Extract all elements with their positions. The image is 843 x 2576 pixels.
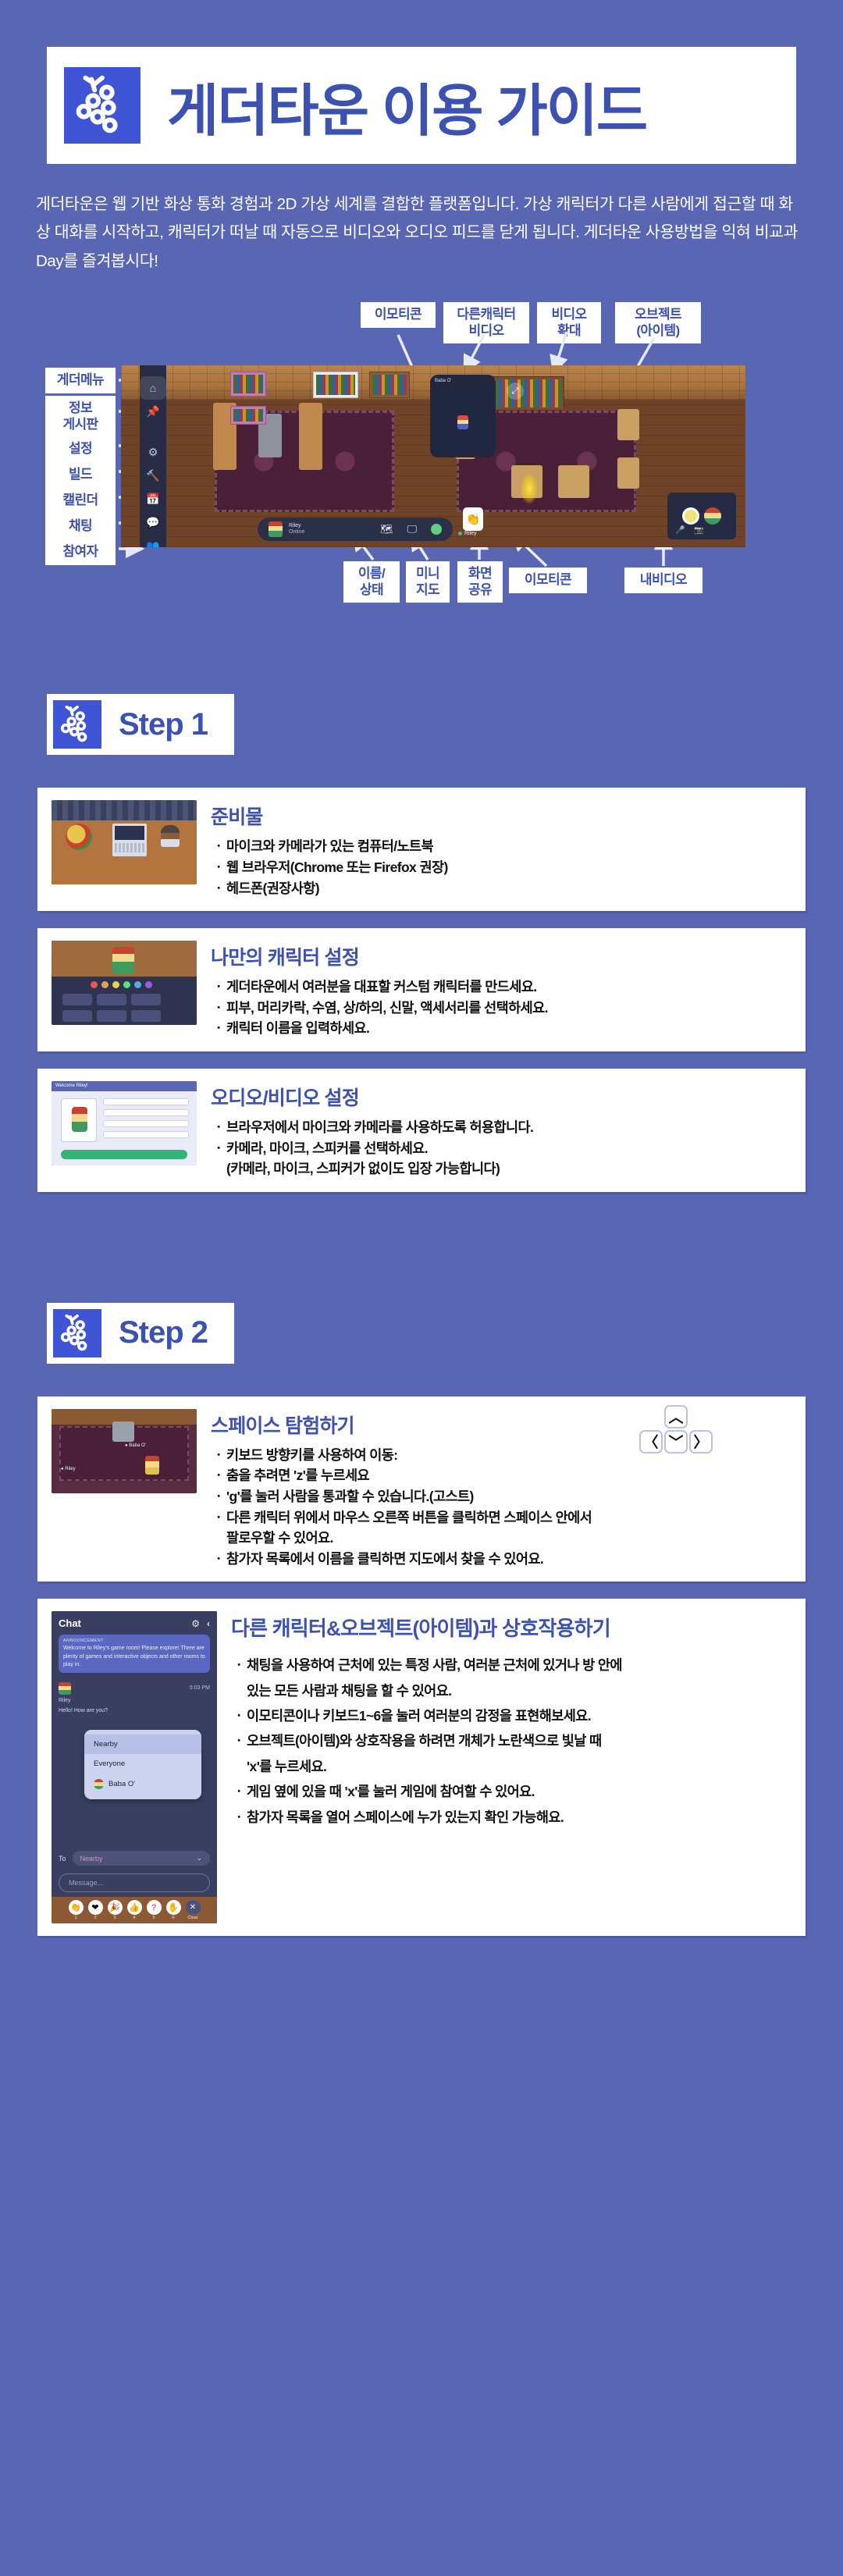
emoji-key-2[interactable]: ❤2 bbox=[88, 1900, 103, 1920]
screenshare-icon[interactable]: 🖵 bbox=[407, 523, 417, 535]
announcement-tag: ANNOUNCEMENT bbox=[63, 1638, 205, 1643]
callout-screenshare: 화면 공유 bbox=[457, 561, 503, 602]
card-character-setup: 나만의 캐릭터 설정 게더타운에서 여러분을 대표할 커스텀 캐릭터를 만드세요… bbox=[37, 928, 806, 1051]
recipient-value: Nearby bbox=[80, 1855, 103, 1863]
av-settings-thumb: Welcome Riley! bbox=[52, 1081, 197, 1165]
dropdown-option-nearby[interactable]: Nearby bbox=[84, 1735, 201, 1754]
section-spacer bbox=[0, 1209, 843, 1303]
toolbar-user-name: Riley bbox=[289, 523, 304, 530]
page-title: 게더타운 이용 가이드 bbox=[167, 65, 646, 147]
home-icon[interactable]: ⌂ bbox=[140, 376, 166, 400]
desk-laptop-thumb bbox=[52, 800, 197, 884]
character-creator-thumb bbox=[52, 941, 197, 1025]
emoji-key-number: 3 bbox=[113, 1916, 116, 1920]
glowing-object-item[interactable] bbox=[521, 473, 538, 504]
calendar-icon[interactable]: 📅 bbox=[140, 487, 166, 511]
down-arrow-key[interactable]: ﹀ bbox=[664, 1430, 688, 1453]
card-av-setup: Welcome Riley! 오디오/비디오 설정 브라우저에서 마이크와 카메… bbox=[37, 1069, 806, 1192]
message-input[interactable]: Message... bbox=[59, 1873, 210, 1892]
player-nametag: ● Riley bbox=[61, 1467, 76, 1471]
close-icon: ✕ bbox=[186, 1900, 201, 1915]
list-item: 'g'를 눌러 사람을 통과할 수 있습니다.(고스트) bbox=[211, 1486, 791, 1507]
card-preparation: 준비물 마이크와 카메라가 있는 컴퓨터/노트북 웹 브라우저(Chrome 또… bbox=[37, 788, 806, 911]
emoji-key-number: 4 bbox=[133, 1916, 135, 1920]
left-arrow-key[interactable]: 〈 bbox=[639, 1430, 663, 1453]
list-item: 웹 브라우저(Chrome 또는 Firefox 권장) bbox=[211, 857, 791, 878]
recipient-select[interactable]: Nearby ⌄ bbox=[73, 1851, 210, 1866]
people-icon[interactable]: 👥 bbox=[140, 534, 166, 547]
gather-grape-logo-icon bbox=[64, 67, 140, 144]
card-bullets: 마이크와 카메라가 있는 컴퓨터/노트북 웹 브라우저(Chrome 또는 Fi… bbox=[211, 836, 791, 898]
pin-icon[interactable]: 📌 bbox=[140, 400, 166, 423]
callout-my-video: 내비디오 bbox=[624, 568, 702, 592]
card-title: 오디오/비디오 설정 bbox=[211, 1083, 791, 1111]
list-item: 게더타운에서 여러분을 대표할 커스텀 캐릭터를 만드세요. bbox=[211, 977, 791, 998]
callout-chat: 채팅 bbox=[45, 514, 116, 539]
arrow-key-cluster[interactable]: ︿ 〈 ﹀ 〉 bbox=[638, 1404, 713, 1454]
list-item: 다른 캐릭터 위에서 마우스 오른쪽 버튼을 클릭하면 스페이스 안에서 bbox=[211, 1507, 791, 1528]
player-nametag: Riley bbox=[458, 531, 477, 536]
emoji-key-number: 1 bbox=[74, 1916, 76, 1920]
step-2-label: Step 2 bbox=[119, 1315, 208, 1350]
spacer bbox=[0, 755, 843, 788]
up-arrow-key[interactable]: ︿ bbox=[664, 1405, 688, 1429]
hammer-icon[interactable]: 🔨 bbox=[140, 464, 166, 487]
question-icon: ? bbox=[147, 1900, 162, 1915]
callout-minimap: 미니 지도 bbox=[406, 561, 450, 602]
mic-off-icon[interactable]: 🎤 bbox=[675, 526, 685, 535]
callout-info-board: 정보 게시판 bbox=[45, 396, 116, 436]
callout-object-item: 오브젝트 (아이템) bbox=[615, 302, 701, 343]
gather-bottom-toolbar[interactable]: Riley Online 🗺 🖵 bbox=[258, 518, 453, 541]
to-label: To bbox=[59, 1855, 66, 1863]
list-item: 브라우저에서 마이크와 카메라를 사용하도록 허용합니다. bbox=[211, 1117, 791, 1138]
list-item: 게임 옆에 있을 때 'x'를 눌러 게임에 참여할 수 있어요. bbox=[231, 1779, 791, 1804]
step-1-banner: Step 1 bbox=[47, 694, 234, 755]
gear-icon[interactable]: ⚙ bbox=[140, 440, 166, 464]
avatar bbox=[59, 1682, 71, 1695]
camera-off-icon[interactable]: 📷 bbox=[694, 526, 703, 535]
dropdown-option-label: Baba O' bbox=[108, 1780, 135, 1788]
clap-icon: 👏 bbox=[69, 1900, 84, 1915]
list-item: 헤드폰(권장사항) bbox=[211, 878, 791, 899]
callout-calendar: 캘린더 bbox=[45, 488, 116, 513]
gather-grape-logo-icon bbox=[53, 700, 101, 749]
other-character-video-tile[interactable]: Baba O' bbox=[430, 375, 496, 457]
callout-build: 빌드 bbox=[45, 462, 116, 487]
card-title: 나만의 캐릭터 설정 bbox=[211, 942, 791, 970]
list-item: 채팅을 사용하여 근처에 있는 특정 사람, 여러분 근처에 있거나 방 안에 bbox=[231, 1653, 791, 1678]
card-bullets: 게더타운에서 여러분을 대표할 커스텀 캐릭터를 만드세요. 피부, 머리카락,… bbox=[211, 977, 791, 1039]
card-title: 준비물 bbox=[211, 802, 791, 830]
emoticon-bubble-icon: 👏 bbox=[463, 507, 483, 531]
right-arrow-key[interactable]: 〉 bbox=[689, 1430, 713, 1453]
message-timestamp: 5:03 PM bbox=[190, 1685, 210, 1691]
annotated-screenshot-diagram: 이모티콘 다른캐릭터 비디오 비디오 확대 오브젝트 (아이템) 게더메뉴 정보… bbox=[0, 296, 843, 600]
chat-panel-title: Chat bbox=[59, 1617, 81, 1629]
card-interaction: Chat ⚙ ‹ ANNOUNCEMENT Welcome to Riley's… bbox=[37, 1599, 806, 1936]
callout-gather-menu: 게더메뉴 bbox=[45, 368, 116, 393]
page-header: 게더타운 이용 가이드 bbox=[47, 47, 796, 164]
party-icon: 🎉 bbox=[108, 1900, 123, 1915]
player-nametag: ● Baba O' bbox=[125, 1443, 146, 1448]
message-text: Hello! How are you? bbox=[59, 1707, 210, 1715]
card-title: 다른 캐릭터&오브젝트(아이템)과 상호작용하기 bbox=[231, 1613, 791, 1642]
gear-icon[interactable]: ⚙ bbox=[191, 1618, 200, 1629]
list-item: 카메라, 마이크, 스피커를 선택하세요. bbox=[211, 1138, 791, 1159]
chat-panel-thumb: Chat ⚙ ‹ ANNOUNCEMENT Welcome to Riley's… bbox=[52, 1611, 217, 1923]
emoji-toolbar[interactable]: 👏1 ❤2 🎉3 👍4 ?5 ✋6 ✕Clear bbox=[52, 1897, 217, 1923]
announcement-message: ANNOUNCEMENT Welcome to Riley's game roo… bbox=[59, 1635, 210, 1672]
list-item: 'x'를 누르세요. bbox=[231, 1754, 791, 1779]
chat-recipient-dropdown[interactable]: Nearby Everyone Baba O' bbox=[84, 1730, 201, 1799]
avatar[interactable] bbox=[269, 521, 283, 537]
callout-other-video: 다른캐릭터 비디오 bbox=[443, 302, 529, 343]
emoji-key-1[interactable]: 👏1 bbox=[69, 1900, 84, 1920]
emoji-key-number: 5 bbox=[152, 1916, 155, 1920]
callout-emoticon: 이모티콘 bbox=[361, 302, 436, 327]
list-item: 있는 모든 사람과 채팅을 할 수 있어요. bbox=[231, 1678, 791, 1703]
peer-video-avatar bbox=[704, 507, 721, 525]
chevron-down-icon[interactable]: ⌄ bbox=[196, 1854, 202, 1863]
card-bullets: 채팅을 사용하여 근처에 있는 특정 사람, 여러분 근처에 있거나 방 안에 … bbox=[231, 1653, 791, 1830]
emoji-key-number: 6 bbox=[172, 1916, 174, 1920]
list-item: 춤을 추려면 'z'를 누르세요 bbox=[211, 1465, 791, 1486]
emoji-key-number: Clear bbox=[187, 1916, 197, 1920]
emoji-key-5[interactable]: ?5 bbox=[147, 1900, 162, 1920]
list-item: 오브젝트(아이템)와 상호작용을 하려면 개체가 노란색으로 빛날 때 bbox=[231, 1728, 791, 1753]
gather-left-sidebar[interactable]: ⌂ 📌 ⚙ 🔨 📅 💬 👥 2 bbox=[140, 365, 166, 547]
list-item: 팔로우할 수 있어요. bbox=[211, 1528, 791, 1549]
heart-icon: ❤ bbox=[88, 1900, 103, 1915]
step-2-banner: Step 2 bbox=[47, 1303, 234, 1364]
avatar bbox=[94, 1779, 104, 1789]
section-spacer bbox=[0, 600, 843, 694]
dropdown-option-user[interactable]: Baba O' bbox=[84, 1774, 201, 1795]
list-item: 피부, 머리카락, 수염, 상/하의, 신말, 액세서리를 선택하세요. bbox=[211, 998, 791, 1019]
list-item: 마이크와 카메라가 있는 컴퓨터/노트북 bbox=[211, 836, 791, 857]
announcement-text: Welcome to Riley's game room! Please exp… bbox=[63, 1645, 205, 1668]
thumbsup-icon: 👍 bbox=[127, 1900, 142, 1915]
emoji-key-6[interactable]: ✋6 bbox=[166, 1900, 181, 1920]
callout-settings: 설정 bbox=[45, 436, 116, 461]
dropdown-option-everyone[interactable]: Everyone bbox=[84, 1754, 201, 1774]
list-item: 참가자 목록을 열어 스페이스에 누가 있는지 확인 가능해요. bbox=[231, 1805, 791, 1830]
chevron-left-icon[interactable]: ‹ bbox=[207, 1618, 210, 1629]
callout-video-expand: 비디오 확대 bbox=[537, 302, 601, 343]
message-sender: Riley bbox=[59, 1697, 210, 1705]
wave-icon: ✋ bbox=[166, 1900, 181, 1915]
card-bullets: 브라우저에서 마이크와 카메라를 사용하도록 허용합니다. 카메라, 마이크, … bbox=[211, 1117, 791, 1179]
card-bullets: 키보드 방향키를 사용하여 이동: 춤을 추려면 'z'를 누르세요 'g'를 … bbox=[211, 1445, 791, 1570]
minimap-icon[interactable]: 🗺 bbox=[380, 523, 393, 535]
my-video-avatar bbox=[682, 507, 699, 525]
callout-participants: 참여자 bbox=[45, 539, 116, 564]
gather-grape-logo-icon bbox=[53, 1309, 101, 1357]
emoji-key-4[interactable]: 👍4 bbox=[127, 1900, 142, 1920]
toolbar-user-status: Online bbox=[289, 529, 304, 536]
list-item: (카메라, 마이크, 스피커가 없이도 입장 가능합니다) bbox=[211, 1158, 791, 1179]
emoji-clear-button[interactable]: ✕Clear bbox=[186, 1900, 201, 1920]
page-bottom-spacer bbox=[0, 1953, 843, 2000]
spacer bbox=[0, 1364, 843, 1397]
step-1-label: Step 1 bbox=[119, 707, 208, 742]
emoji-icon[interactable] bbox=[431, 524, 442, 535]
space-room-thumb: ● Baba O' ● Riley bbox=[52, 1409, 197, 1493]
callout-emoticon-bar: 이모티콘 bbox=[509, 568, 587, 592]
intro-paragraph: 게더타운은 웹 기반 화상 통화 경험과 2D 가상 세계를 결합한 플랫폼입니… bbox=[36, 190, 807, 276]
list-item: 캐릭터 이름을 입력하세요. bbox=[211, 1018, 791, 1039]
card-explore-space: ● Baba O' ● Riley 스페이스 탐험하기 키보드 방향키를 사용하… bbox=[37, 1397, 806, 1582]
list-item: 이모티콘이나 키보드1~6을 눌러 여러분의 감정을 표현해보세요. bbox=[231, 1703, 791, 1728]
emoji-key-3[interactable]: 🎉3 bbox=[108, 1900, 123, 1920]
my-video-panel[interactable]: 🎤 📷 bbox=[667, 493, 736, 539]
list-item: 참가자 목록에서 이름을 클릭하면 지도에서 찾을 수 있어요. bbox=[211, 1549, 791, 1570]
chat-bubble-icon[interactable]: 💬 bbox=[140, 511, 166, 534]
gather-space-screenshot: Baba O' ⤢ 👏 Baba O' Riley ⌂ 📌 ⚙ 🔨 📅 💬 👥 … bbox=[121, 365, 745, 547]
emoji-key-number: 2 bbox=[94, 1916, 96, 1920]
callout-name-status: 이름/ 상태 bbox=[343, 561, 400, 602]
video-tile-name: Baba O' bbox=[435, 379, 452, 383]
